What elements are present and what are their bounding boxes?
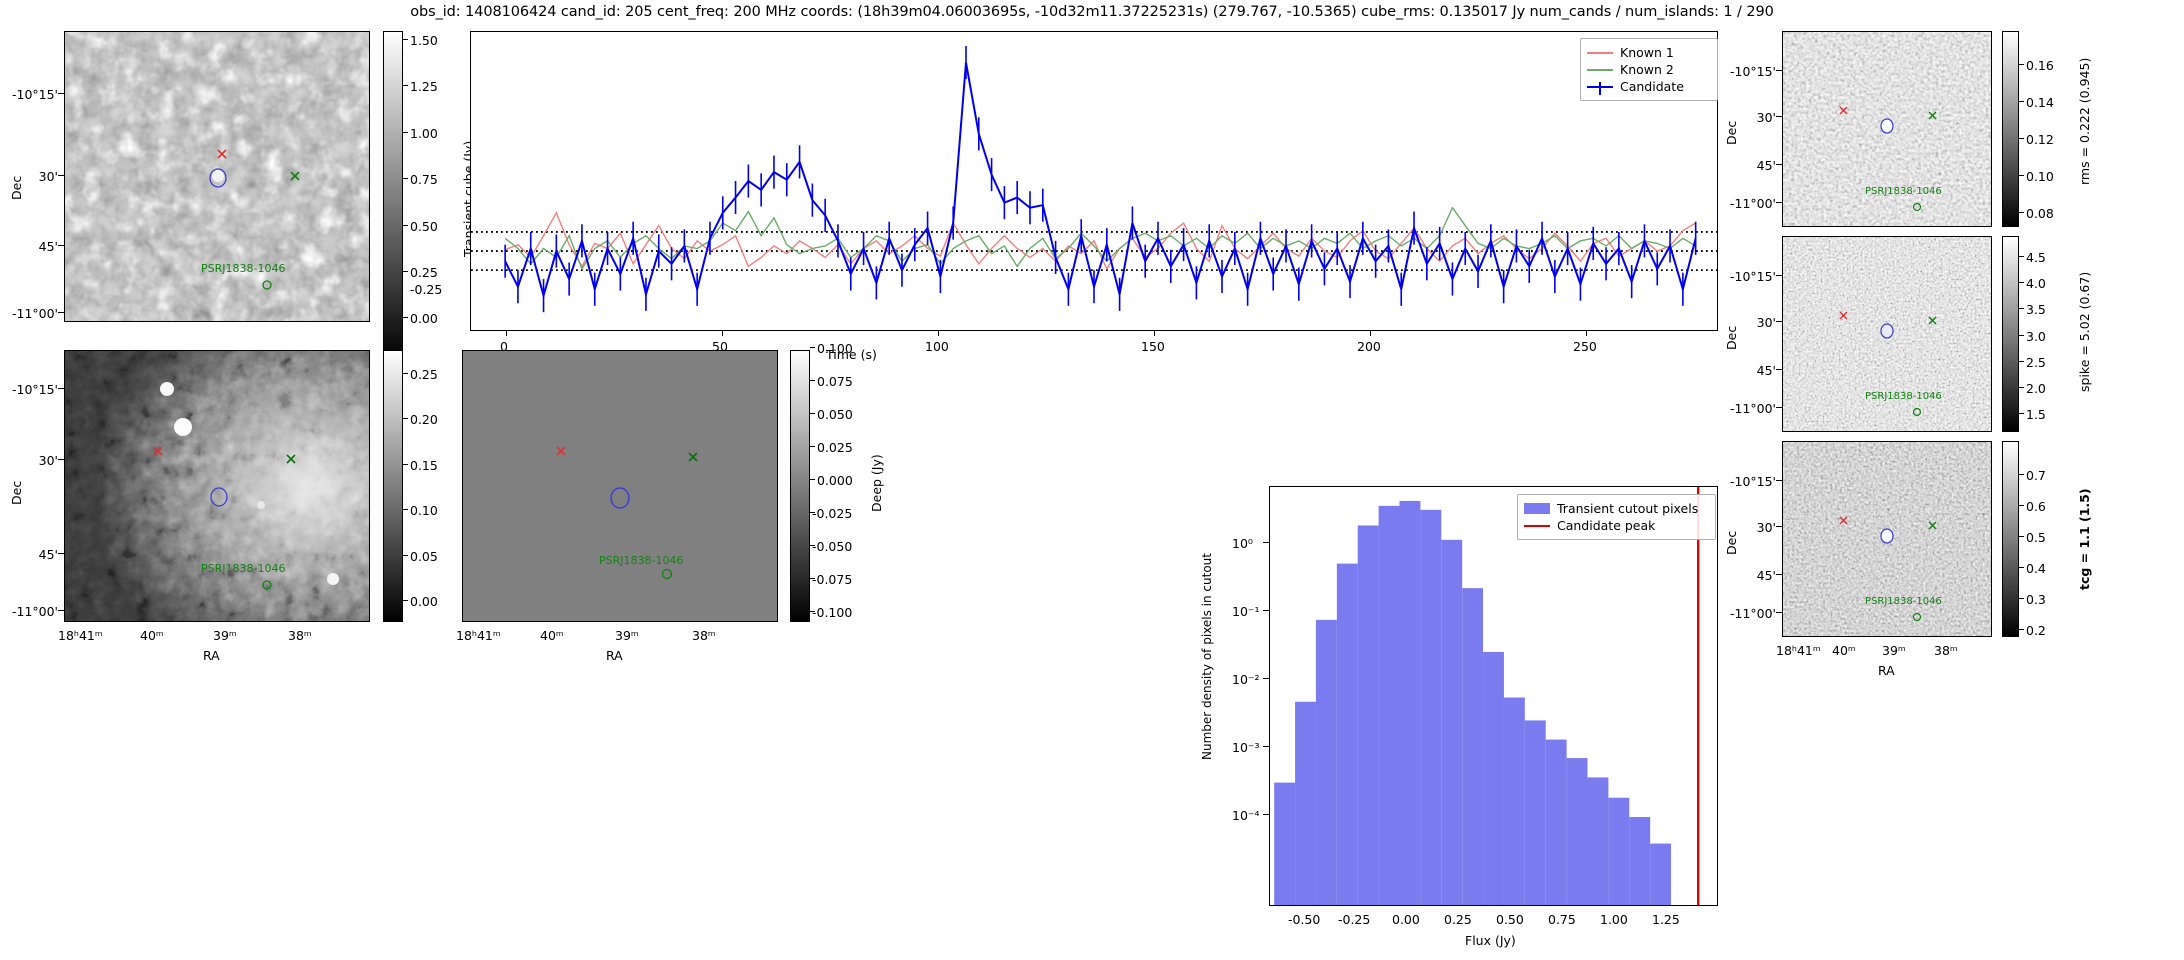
- panel-gleam-dec-tick-3: -11°00': [0, 604, 58, 619]
- spike-overlays: [1783, 237, 1992, 432]
- panel-tcg-ra-tick-2: 39ᵐ: [1882, 643, 1906, 658]
- panel-gleam-source-label: PSRJ1838-1046: [201, 562, 285, 575]
- legend-item-known1: Known 1: [1587, 44, 1709, 61]
- panel-tcg-dec-tick-3: -11°00': [1716, 606, 1776, 621]
- panel-rms-dec-tick-3: -11°00': [1716, 196, 1776, 211]
- flux-histogram-legend: Transient cutout pixels Candidate peak: [1517, 494, 1716, 540]
- panel-spike-dec-tick-0: -10°15': [1716, 269, 1776, 284]
- panel-rms[interactable]: PSRJ1838-1046: [1782, 31, 1992, 227]
- colorbar-transient-cube: [383, 31, 403, 361]
- panel-rms-ylabel: Dec: [1724, 121, 1739, 145]
- panel-tcg-ra-tick-0: 18ʰ41ᵐ: [1776, 643, 1821, 658]
- panel-gleam-dec-tick-2: 45': [0, 547, 58, 562]
- colorbar-transient-cube-tick-5: 0.25: [410, 265, 438, 280]
- panel-tcg-xlabel: RA: [1878, 663, 1895, 678]
- colorbar-gleam-tick-3: 0.10: [410, 503, 438, 518]
- lightcurve-legend: Known 1 Known 2 Candidate: [1580, 38, 1718, 101]
- panel-gleam-ra-tick-1: 40ᵐ: [140, 628, 164, 643]
- colorbar-gleam-tick-4: 0.05: [410, 549, 438, 564]
- colorbar-gleam-tick-5: 0.00: [410, 594, 438, 609]
- panel-spike-ylabel: Dec: [1724, 326, 1739, 350]
- colorbar-transient-cube-tick-1: 1.25: [410, 79, 438, 94]
- colorbar-spike-tick-4: 2.5: [2026, 355, 2046, 370]
- panel-gleam-ylabel: Dec: [9, 481, 24, 505]
- panel-spike[interactable]: PSRJ1838-1046: [1782, 236, 1992, 432]
- lightcurve-xtick-5: 250: [1573, 339, 1597, 354]
- flux-histogram-ytick-3: 10⁻³: [1232, 740, 1260, 755]
- colorbar-transient-cube-tick-4: 0.50: [410, 219, 438, 234]
- panel-gleam-dec-tick-1: 30': [0, 453, 58, 468]
- colorbar-gleam-tick-0: 0.25: [410, 367, 438, 382]
- panel-deep-xlabel: RA: [606, 648, 623, 663]
- colorbar-deep-tick-2: 0.050: [817, 407, 853, 422]
- gleam-overlays: [65, 351, 370, 622]
- legend-swatch-candidate: [1587, 86, 1613, 88]
- flux-histogram-xtick-5: 0.75: [1548, 912, 1576, 927]
- panel-transient-cube-ylabel: Dec: [9, 176, 24, 200]
- colorbar-deep: [790, 350, 810, 622]
- legend-label-known1: Known 1: [1620, 45, 1674, 60]
- flux-histogram-xlabel: Flux (Jy): [1465, 933, 1516, 948]
- panel-deep-ra-tick-1: 40ᵐ: [540, 628, 564, 643]
- colorbar-deep-tick-0: 0.100: [817, 341, 853, 356]
- flux-histogram-xtick-3: 0.25: [1444, 912, 1472, 927]
- colorbar-tcg-tick-0: 0.7: [2026, 468, 2046, 483]
- colorbar-spike-tick-2: 3.5: [2026, 302, 2046, 317]
- panel-rms-source-label: PSRJ1838-1046: [1865, 186, 1942, 197]
- panel-gleam[interactable]: PSRJ1838-1046: [64, 350, 370, 622]
- colorbar-rms-tick-3: 0.10: [2026, 169, 2054, 184]
- panel-transient-cube-dec-tick-2: 45': [0, 239, 58, 254]
- panel-transient-cube-dec-tick-0: -10°15': [0, 87, 58, 102]
- legend-label-candidate-peak: Candidate peak: [1557, 518, 1655, 533]
- colorbar-spike-tick-5: 2.0: [2026, 381, 2046, 396]
- legend-swatch-known1: [1587, 52, 1613, 54]
- colorbar-transient-cube-tick-2: 1.00: [410, 126, 438, 141]
- colorbar-spike-tick-0: 4.5: [2026, 250, 2046, 265]
- colorbar-deep-label: Deep (Jy): [869, 454, 884, 512]
- rms-overlays: [1783, 32, 1992, 227]
- lightcurve-xtick-2: 100: [925, 339, 949, 354]
- legend-label-known2: Known 2: [1620, 62, 1674, 77]
- colorbar-tcg: [2002, 441, 2019, 637]
- colorbar-tcg-tick-1: 0.6: [2026, 499, 2046, 514]
- panel-rms-dec-tick-2: 45': [1716, 158, 1776, 173]
- panel-deep-ra-tick-0: 18ʰ41ᵐ: [456, 628, 501, 643]
- legend-item-transient-pixels: Transient cutout pixels: [1524, 500, 1707, 517]
- page-title: obs_id: 1408106424 cand_id: 205 cent_fre…: [0, 4, 2184, 20]
- colorbar-gleam-tick-1: 0.20: [410, 412, 438, 427]
- legend-item-known2: Known 2: [1587, 61, 1709, 78]
- flux-histogram-xtick-2: 0.00: [1392, 912, 1420, 927]
- panel-gleam-ra-tick-3: 38ᵐ: [288, 628, 312, 643]
- flux-histogram-ytick-1: 10⁻¹: [1232, 604, 1260, 619]
- colorbar-rms-tick-4: 0.08: [2026, 206, 2054, 221]
- colorbar-rms-label: rms = 0.222 (0.945): [2077, 58, 2092, 185]
- colorbar-deep-tick-1: 0.075: [817, 374, 853, 389]
- flux-histogram-xtick-6: 1.00: [1600, 912, 1628, 927]
- colorbar-deep-tick-5: -0.025: [812, 506, 852, 521]
- colorbar-tcg-tick-2: 0.5: [2026, 530, 2046, 545]
- panel-tcg-dec-tick-0: -10°15': [1716, 474, 1776, 489]
- panel-rms-dec-tick-0: -10°15': [1716, 64, 1776, 79]
- colorbar-transient-cube-tick-6: 0.00: [410, 311, 438, 326]
- deep-overlays: [463, 351, 778, 622]
- colorbar-rms-tick-2: 0.12: [2026, 132, 2054, 147]
- panel-tcg-dec-tick-2: 45': [1716, 568, 1776, 583]
- colorbar-tcg-tick-5: 0.2: [2026, 623, 2046, 638]
- panel-flux-histogram[interactable]: [1269, 486, 1718, 906]
- flux-histogram-ylabel: Number density of pixels in cutout: [1200, 553, 1214, 760]
- flux-histogram-xtick-1: -0.25: [1338, 912, 1370, 927]
- tcg-overlays: [1783, 442, 1992, 637]
- panel-transient-cube-dec-tick-3: -11°00': [0, 306, 58, 321]
- legend-item-candidate: Candidate: [1587, 78, 1709, 95]
- colorbar-spike-tick-1: 4.0: [2026, 276, 2046, 291]
- legend-item-candidate-peak: Candidate peak: [1524, 517, 1707, 534]
- panel-deep[interactable]: PSRJ1838-1046: [462, 350, 778, 622]
- legend-swatch-candidate-peak: [1524, 525, 1550, 527]
- panel-gleam-dec-tick-0: -10°15': [0, 382, 58, 397]
- colorbar-deep-tick-6: -0.050: [812, 539, 852, 554]
- panel-spike-dec-tick-2: 45': [1716, 363, 1776, 378]
- colorbar-spike-tick-3: 3.0: [2026, 329, 2046, 344]
- panel-transient-cube-source-label: PSRJ1838-1046: [201, 262, 285, 275]
- colorbar-deep-tick-3: 0.025: [817, 440, 853, 455]
- colorbar-rms-tick-1: 0.14: [2026, 95, 2054, 110]
- panel-deep-source-label: PSRJ1838-1046: [599, 554, 683, 567]
- flux-histogram-ytick-0: 10⁰: [1232, 536, 1253, 551]
- panel-spike-source-label: PSRJ1838-1046: [1865, 391, 1942, 402]
- panel-tcg-source-label: PSRJ1838-1046: [1865, 596, 1942, 607]
- colorbar-rms: [2002, 31, 2019, 227]
- panel-tcg-ylabel: Dec: [1724, 531, 1739, 555]
- legend-label-candidate: Candidate: [1620, 79, 1684, 94]
- panel-gleam-ra-tick-0: 18ʰ41ᵐ: [58, 628, 103, 643]
- colorbar-spike-label: spike = 5.02 (0.67): [2077, 272, 2092, 392]
- panel-gleam-ra-tick-2: 39ᵐ: [213, 628, 237, 643]
- flux-histogram-xtick-0: -0.50: [1288, 912, 1320, 927]
- flux-histogram-ytick-4: 10⁻⁴: [1232, 808, 1260, 823]
- colorbar-transient-cube-tick-0: 1.50: [410, 33, 438, 48]
- lightcurve-plot: [471, 32, 1717, 330]
- panel-deep-ra-tick-3: 38ᵐ: [692, 628, 716, 643]
- colorbar-transient-cube-tick-3: 0.75: [410, 172, 438, 187]
- transient-cube-overlays: [65, 32, 370, 322]
- panel-tcg-ra-tick-3: 38ᵐ: [1934, 643, 1958, 658]
- panel-lightcurve[interactable]: [470, 31, 1718, 331]
- flux-histogram-xtick-4: 0.50: [1496, 912, 1524, 927]
- flux-histogram-ytick-2: 10⁻²: [1232, 672, 1260, 687]
- legend-label-transient-pixels: Transient cutout pixels: [1557, 501, 1698, 516]
- colorbar-deep-tick-7: -0.075: [812, 572, 852, 587]
- colorbar-deep-tick-8: -0.100: [812, 605, 852, 620]
- colorbar-tcg-tick-3: 0.4: [2026, 561, 2046, 576]
- panel-tcg[interactable]: PSRJ1838-1046: [1782, 441, 1992, 637]
- flux-histogram-xtick-7: 1.25: [1652, 912, 1680, 927]
- colorbar-tcg-label: tcg = 1.1 (1.5): [2077, 488, 2092, 590]
- panel-transient-cube[interactable]: PSRJ1838-1046: [64, 31, 370, 322]
- colorbar-spike-tick-6: 1.5: [2026, 407, 2046, 422]
- colorbar-gleam-tick-2: 0.15: [410, 458, 438, 473]
- lightcurve-xtick-4: 200: [1357, 339, 1381, 354]
- colorbar-rms-tick-0: 0.16: [2026, 58, 2054, 73]
- panel-spike-dec-tick-3: -11°00': [1716, 401, 1776, 416]
- colorbar-tcg-tick-4: 0.3: [2026, 592, 2046, 607]
- legend-swatch-known2: [1587, 69, 1613, 71]
- colorbar-transient-cube-tick-minus: -0.25: [410, 282, 442, 297]
- legend-swatch-transient-pixels: [1524, 503, 1550, 514]
- colorbar-gleam: [383, 350, 403, 622]
- flux-histogram-plot: [1270, 487, 1717, 905]
- lightcurve-xtick-3: 150: [1141, 339, 1165, 354]
- colorbar-spike: [2002, 236, 2019, 432]
- panel-tcg-ra-tick-1: 40ᵐ: [1832, 643, 1856, 658]
- panel-gleam-xlabel: RA: [203, 648, 220, 663]
- panel-deep-ra-tick-2: 39ᵐ: [615, 628, 639, 643]
- colorbar-deep-tick-4: 0.000: [817, 473, 853, 488]
